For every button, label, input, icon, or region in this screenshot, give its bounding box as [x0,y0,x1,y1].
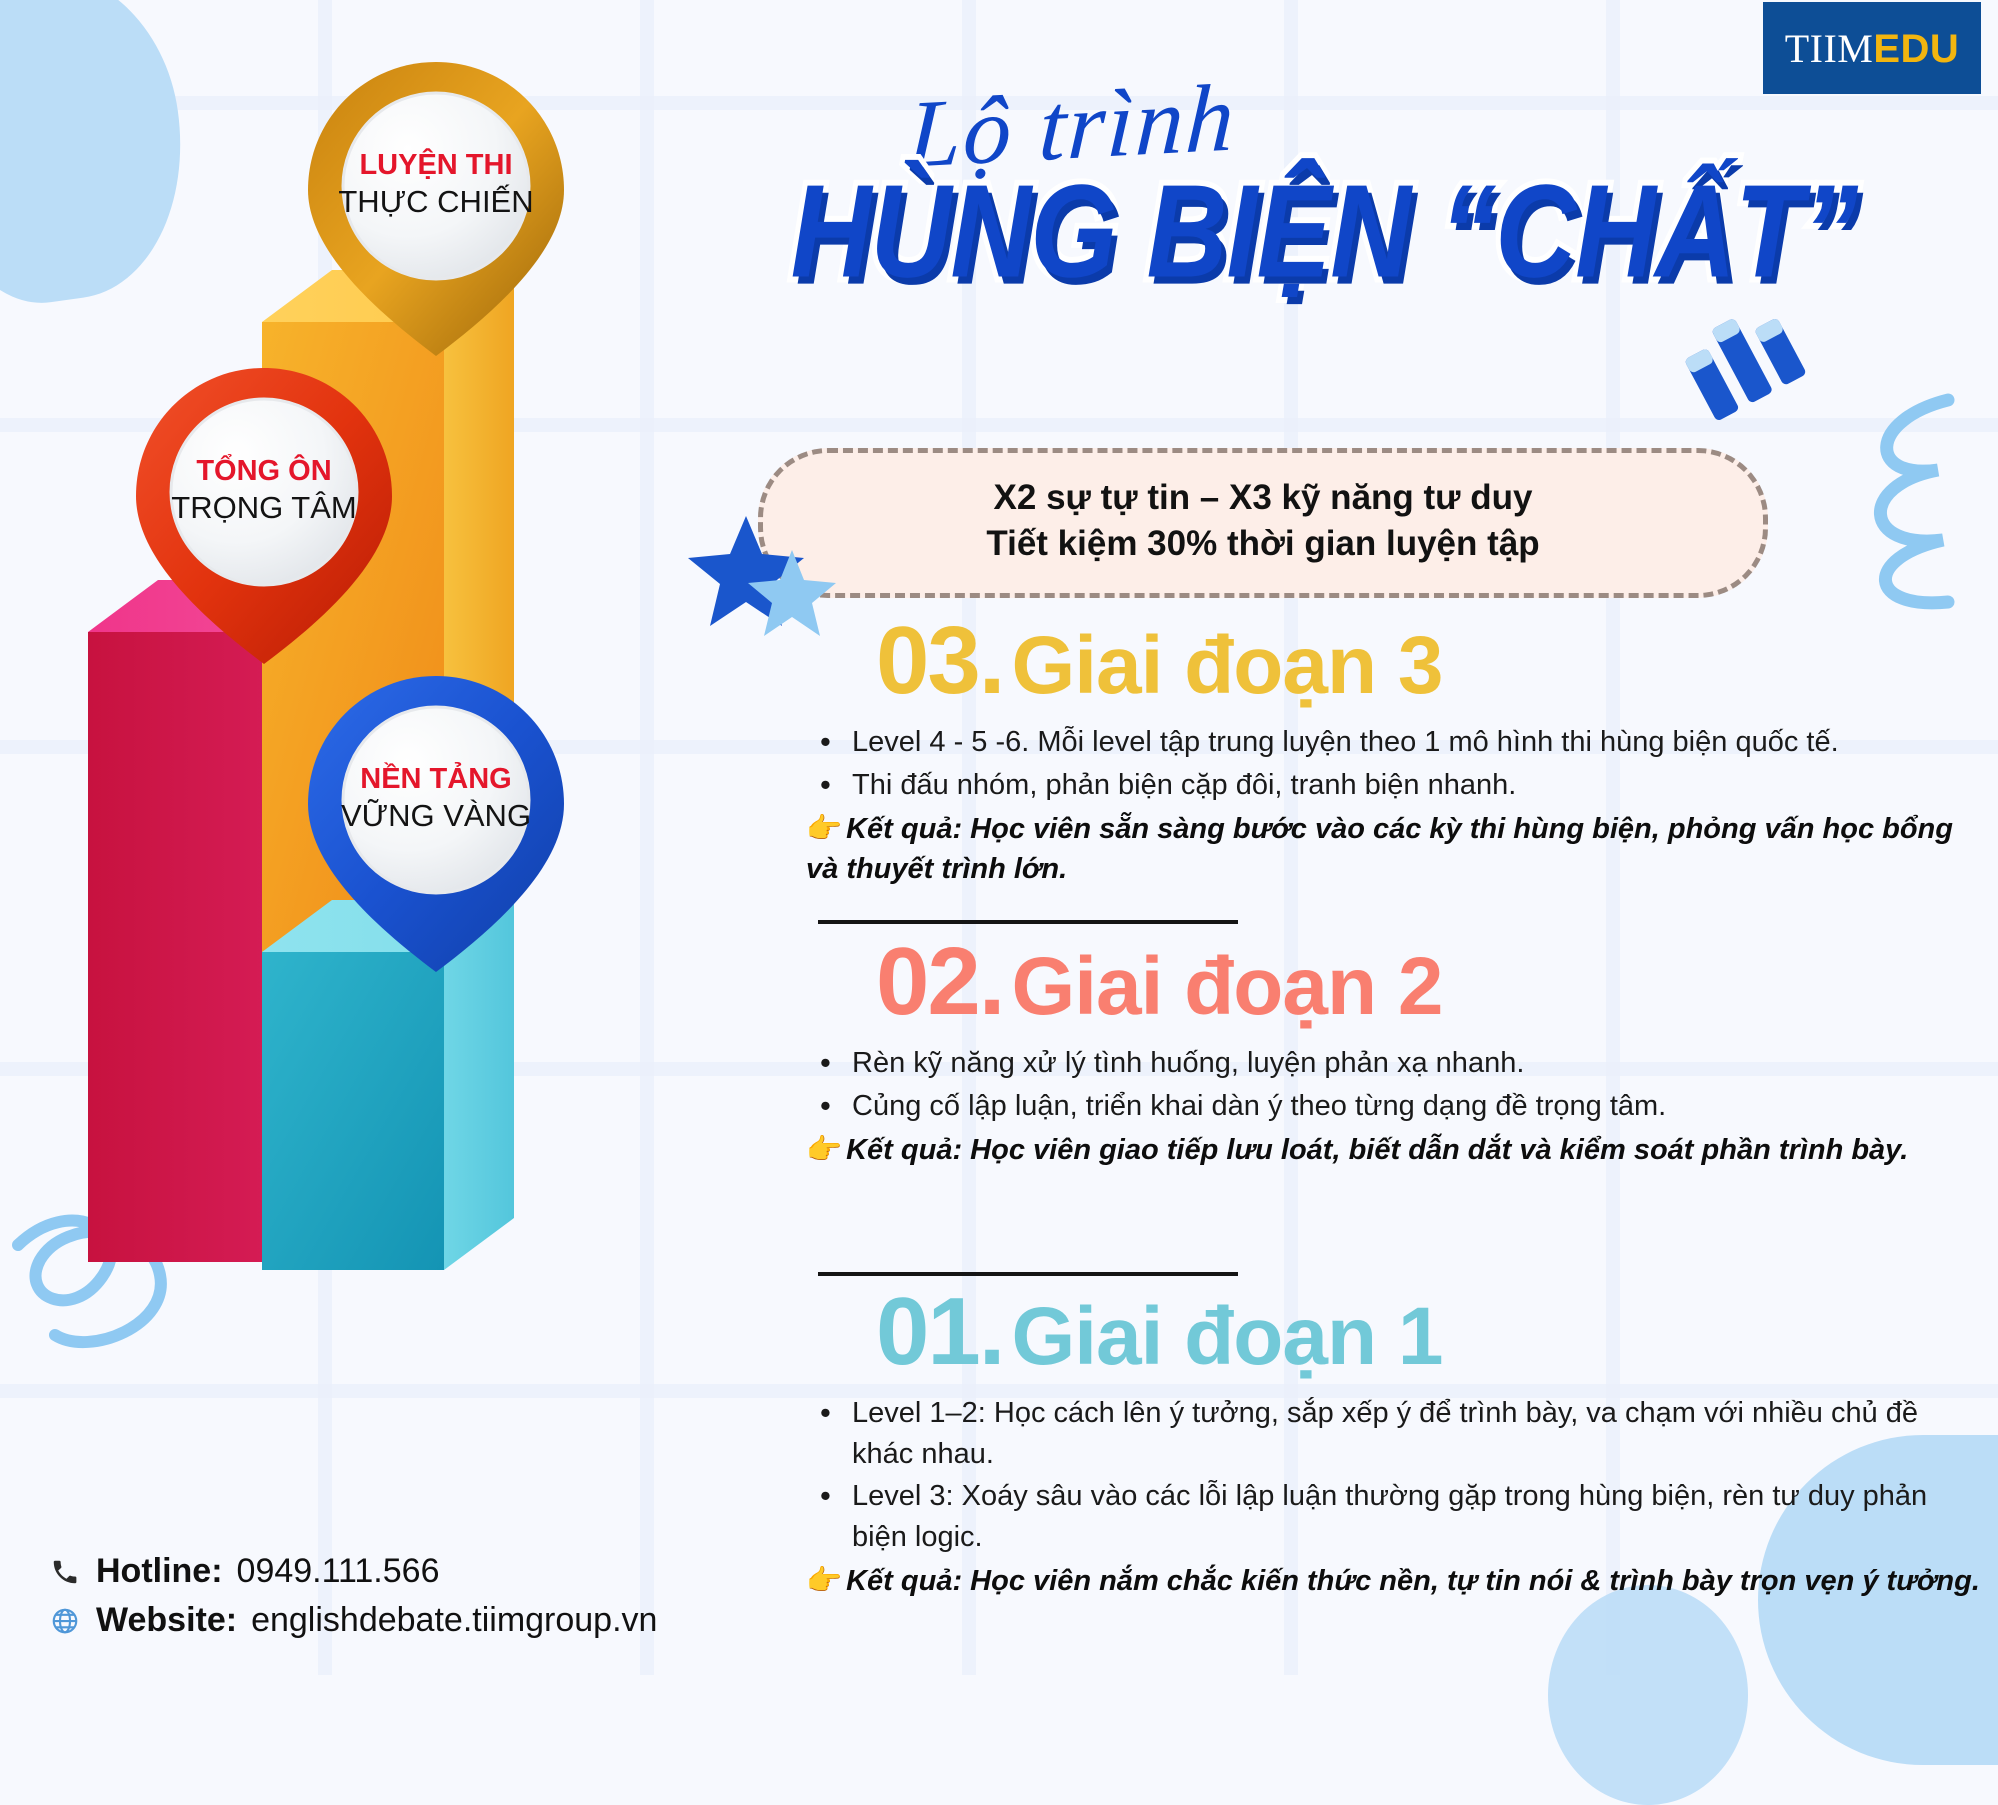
stage-3-result-text: Kết quả: Học viên sẵn sàng bước vào các … [806,813,1953,885]
stage-2-heading: 02. Giai đoạn 2 [710,935,1980,1029]
stage-section-2: 02. Giai đoạn 2 Rèn kỹ năng xử lý tình h… [710,935,1980,1170]
hotline-label: Hotline: [96,1552,223,1591]
stage-1-result-text: Kết quả: Học viên nắm chắc kiến thức nền… [846,1565,1980,1597]
stage-3-bullet-list: Level 4 - 5 -6. Mỗi level tập trung luyệ… [804,722,1980,805]
stage-2-number: 02. [876,935,1003,1029]
section-divider-2 [818,1272,1238,1276]
stage-1-name: Giai đoạn 1 [1011,1296,1442,1378]
stage-1-result: 👉Kết quả: Học viên nắm chắc kiến thức nề… [804,1561,1980,1601]
stage-3-body: Level 4 - 5 -6. Mỗi level tập trung luyệ… [710,708,1980,889]
list-item: Level 3: Xoáy sâu vào các lỗi lập luận t… [804,1476,1980,1557]
stage-3-number: 03. [876,614,1003,708]
hotline-row: Hotline: 0949.111.566 [48,1552,657,1591]
isometric-bars-svg: LUYỆN THI THỰC CHIẾN TỔNG ÔN TRỌNG TÂM N… [0,0,660,1675]
pin-3-label-bottom: VỮNG VÀNG [341,798,531,833]
website-label: Website: [96,1601,237,1640]
promo-banner: X2 sự tự tin – X3 kỹ năng tư duy Tiết ki… [758,448,1768,598]
stage-1-body: Level 1–2: Học cách lên ý tưởng, sắp xếp… [710,1379,1980,1601]
list-item: Level 1–2: Học cách lên ý tưởng, sắp xếp… [804,1393,1980,1474]
pencils-decoration-icon [1678,300,1848,440]
stars-decoration-icon [688,510,848,640]
bar-cyan [262,900,514,1270]
pointing-hand-icon: 👉 [806,1134,842,1166]
promo-line-1: X2 sự tự tin – X3 kỹ năng tư duy [803,475,1723,521]
stage-2-bullet-list: Rèn kỹ năng xử lý tình huống, luyện phản… [804,1043,1980,1126]
globe-icon [48,1604,82,1638]
pin-1-label-bottom: THỰC CHIẾN [338,184,533,219]
stage-1-heading: 01. Giai đoạn 1 [710,1285,1980,1379]
stage-1-bullet-list: Level 1–2: Học cách lên ý tưởng, sắp xếp… [804,1393,1980,1557]
list-item: Thi đấu nhóm, phản biện cặp đôi, tranh b… [804,765,1980,806]
pin-3-label-top: NỀN TẢNG [360,761,511,795]
phone-icon [48,1555,82,1589]
pointing-hand-icon: 👉 [806,813,842,845]
list-item: Củng cố lập luận, triển khai dàn ý theo … [804,1086,1980,1127]
page-title: HÙNG BIỆN “CHẤT” [650,155,1998,307]
stage-2-name: Giai đoạn 2 [1011,946,1442,1028]
pin-2-label-top: TỔNG ÔN [196,453,331,487]
website-value[interactable]: englishdebate.tiimgroup.vn [251,1601,657,1640]
stage-section-1: 01. Giai đoạn 1 Level 1–2: Học cách lên … [710,1285,1980,1601]
section-divider-1 [818,920,1238,924]
logo-text-edu: EDU [1873,27,1959,71]
list-item: Rèn kỹ năng xử lý tình huống, luyện phản… [804,1043,1980,1084]
stage-3-name: Giai đoạn 3 [1011,625,1442,707]
stage-2-body: Rèn kỹ năng xử lý tình huống, luyện phản… [710,1029,1980,1170]
pin-1-label-top: LUYỆN THI [359,147,512,181]
logo-text-tiim: TIIM [1785,26,1874,71]
website-row: Website: englishdebate.tiimgroup.vn [48,1601,657,1640]
list-item: Level 4 - 5 -6. Mỗi level tập trung luyệ… [804,722,1980,763]
hotline-value: 0949.111.566 [237,1552,440,1591]
pin-2-label-bottom: TRỌNG TÂM [171,490,356,525]
stage-2-result-text: Kết quả: Học viên giao tiếp lưu loát, bi… [846,1134,1908,1166]
stage-2-result: 👉Kết quả: Học viên giao tiếp lưu loát, b… [804,1130,1980,1170]
promo-line-2: Tiết kiệm 30% thời gian luyện tập [803,521,1723,567]
brand-logo: TIIMEDU [1763,2,1981,94]
stage-3-heading: 03. Giai đoạn 3 [710,614,1980,708]
stage-1-number: 01. [876,1285,1003,1379]
stage-section-3: 03. Giai đoạn 3 Level 4 - 5 -6. Mỗi leve… [710,614,1980,889]
stage-3-result: 👉Kết quả: Học viên sẵn sàng bước vào các… [804,809,1980,889]
bar-chart-illustration: LUYỆN THI THỰC CHIẾN TỔNG ÔN TRỌNG TÂM N… [0,0,660,1675]
pointing-hand-icon: 👉 [806,1565,842,1597]
contact-footer: Hotline: 0949.111.566 Website: englishde… [48,1552,657,1650]
